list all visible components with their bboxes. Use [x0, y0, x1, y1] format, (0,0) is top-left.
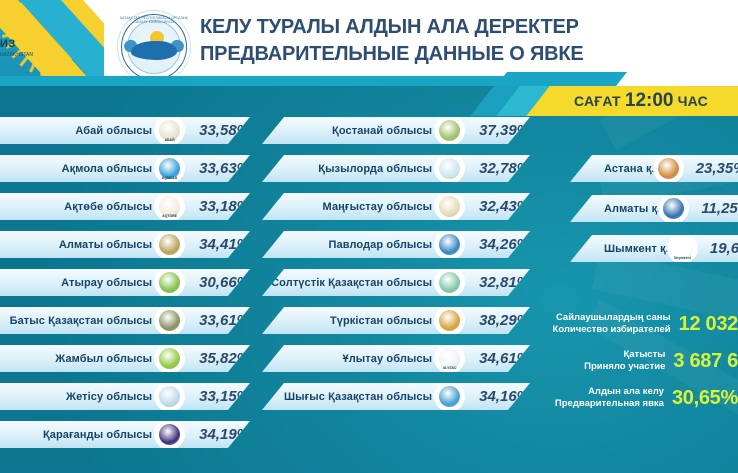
turnout-percentage: 35,82% [199, 350, 250, 367]
seal-emblem-icon [439, 310, 460, 331]
stat-label-kazakh: Сайлаушылардың саны [548, 312, 671, 324]
seal-emblem-icon [439, 272, 460, 293]
region-row: Жетісу облысы33,15% [0, 383, 250, 410]
emblem-caption: ҚАЗАҚСТАН РЕСПУБЛИКАСЫ ОРТАЛЫҚ САЙЛАУ КО… [118, 16, 190, 24]
soltustik-qazaqstan-seal [436, 269, 463, 296]
kostanai-seal [436, 117, 463, 144]
seal-caption: ULYTAU [436, 366, 463, 370]
ulytau-seal: ULYTAU [436, 345, 463, 372]
region-row: Жамбыл облысы35,82% [0, 345, 250, 372]
akmola-seal: AQMOLA [156, 155, 183, 182]
turnout-percentage: 34,19% [199, 426, 250, 443]
aktobe-seal: AQTOBE [156, 193, 183, 220]
stat-label-russian: Приняло участие [548, 361, 665, 373]
turnout-percentage: 11,25% [701, 200, 738, 217]
cec-emblem-icon: ҚАЗАҚСТАН РЕСПУБЛИКАСЫ ОРТАЛЫҚ САЙЛАУ КО… [117, 10, 191, 84]
seal-emblem-icon [159, 424, 180, 445]
header-accent-wedge [493, 72, 627, 86]
seal-emblem-icon [159, 386, 180, 407]
region-row: Қарағанды облысы34,19% [0, 421, 250, 448]
page-header: ИЗ KAZAKHSTAN ҚАЗАҚСТАН РЕСПУБЛИКАСЫ ОРТ… [0, 0, 738, 86]
region-row: Маңғыстау облысы32,43% [262, 193, 530, 220]
region-row: Атырау облысы30,66% [0, 269, 250, 296]
region-row: Ақмола облысыAQMOLA33,63% [0, 155, 250, 182]
region-row: Батыс Қазақстан облысы33,61% [0, 307, 250, 334]
stat-labels: Сайлаушылардың саныКоличество избирателе… [548, 312, 679, 336]
title-russian: ПРЕДВАРИТЕЛЬНЫЕ ДАННЫЕ О ЯВКЕ [200, 41, 584, 68]
region-row: Алматы облысы34,41% [0, 231, 250, 258]
stat-value: 3 687 6 [673, 350, 738, 373]
seal-emblem-icon [159, 234, 180, 255]
region-row: Павлодар облысы34,26% [262, 231, 530, 258]
region-name: Қостанай облысы [332, 125, 436, 137]
emblem-map-icon [131, 41, 177, 60]
header-accent-bar [0, 76, 560, 86]
region-name: Алматы облысы [59, 239, 156, 251]
time-value: 12:00 [625, 90, 674, 111]
zhambyl-seal [156, 345, 183, 372]
time-suffix: ЧАС [678, 93, 708, 109]
region-name: Қарағанды облысы [43, 429, 156, 441]
zhetysu-seal [156, 383, 183, 410]
time-banner-text: САҒАТ 12:00 ЧАС [574, 90, 708, 112]
kazakhstan-flag: ИЗ KAZAKHSTAN [0, 0, 104, 86]
almaty-city-seal [660, 195, 687, 222]
flag-label: ИЗ [0, 38, 16, 50]
seal-caption: AQTOBE [156, 214, 183, 218]
region-row: Ұлытау облысыULYTAU34,61% [262, 345, 530, 372]
region-row: Түркістан облысы38,29% [262, 307, 530, 334]
region-name: Ақтөбе облысы [64, 201, 156, 213]
seal-caption: Shymkent [669, 256, 696, 260]
turnout-percentage: 34,16% [479, 388, 530, 405]
region-row: Қызылорда облысы32,78% [262, 155, 530, 182]
turnout-percentage: 34,61% [479, 350, 530, 367]
stat-value: 12 032 [679, 313, 738, 336]
region-name: Ұлытау облысы [343, 353, 437, 365]
stat-label-russian: Количество избирателей [548, 324, 671, 336]
region-row: Солтүстік Қазақстан облысы32,81% [262, 269, 530, 296]
turnout-percentage: 23,35% [696, 160, 738, 177]
region-name: Қызылорда облысы [318, 163, 436, 175]
stat-item: Алдын ала келуПредварительная явка30,65% [548, 386, 738, 410]
stat-value: 30,65% [672, 387, 738, 410]
seal-emblem-icon [658, 158, 679, 179]
region-name: Солтүстік Қазақстан облысы [271, 277, 436, 289]
time-prefix: САҒАТ [574, 93, 621, 109]
region-row: Шығыс Қазақстан облысы34,16% [262, 383, 530, 410]
region-name: Түркістан облысы [330, 315, 436, 327]
infographic-canvas: ИЗ KAZAKHSTAN ҚАЗАҚСТАН РЕСПУБЛИКАСЫ ОРТ… [0, 0, 738, 473]
turnout-percentage: 33,18% [199, 198, 250, 215]
page-title: КЕЛУ ТУРАЛЫ АЛДЫН АЛА ДЕРЕКТЕР ПРЕДВАРИТ… [200, 14, 584, 68]
stat-label-kazakh: Алдын ала келу [548, 386, 664, 398]
turnout-percentage: 34,26% [479, 236, 530, 253]
turnout-percentage: 33,63% [199, 160, 250, 177]
seal-emblem-icon [439, 158, 460, 179]
region-row: Шымкент қ.Shymkent19,63% [570, 235, 738, 262]
seal-emblem-icon [439, 196, 460, 217]
turkistan-seal [436, 307, 463, 334]
turnout-percentage: 32,43% [479, 198, 530, 215]
abai-seal: АБАЙ [156, 117, 183, 144]
region-name: Атырау облысы [61, 277, 156, 289]
region-name: Алматы қ. [604, 203, 660, 215]
pavlodar-seal [436, 231, 463, 258]
stat-item: Сайлаушылардың саныКоличество избирателе… [548, 312, 738, 336]
seal-emblem-icon [663, 198, 684, 219]
flag-sublabel: KAZAKHSTAN [0, 52, 33, 58]
stat-labels: Алдын ала келуПредварительная явка [548, 386, 672, 410]
turnout-percentage: 37,39% [479, 122, 530, 139]
region-name: Жамбыл облысы [55, 353, 156, 365]
turnout-percentage: 38,29% [479, 312, 530, 329]
stat-item: ҚатыстыПриняло участие3 687 6 [548, 349, 738, 373]
seal-emblem-icon [159, 348, 180, 369]
kyzylorda-seal [436, 155, 463, 182]
stat-label-kazakh: Қатысты [548, 349, 665, 361]
seal-emblem-icon [439, 120, 460, 141]
atyrau-seal [156, 269, 183, 296]
turnout-percentage: 30,66% [199, 274, 250, 291]
shygys-qazaqstan-seal [436, 383, 463, 410]
mangystau-seal [436, 193, 463, 220]
header-bottom-accent [0, 76, 738, 86]
region-row: Ақтөбе облысыAQTOBE33,18% [0, 193, 250, 220]
region-name: Абай облысы [75, 125, 156, 137]
karaganda-seal [156, 421, 183, 448]
region-name: Жетісу облысы [66, 391, 156, 403]
turnout-percentage: 19,63% [710, 240, 738, 257]
region-row: Алматы қ.11,25% [570, 195, 738, 222]
astana-seal [655, 155, 682, 182]
region-name: Батыс Қазақстан облысы [10, 315, 157, 327]
summary-stats: Сайлаушылардың саныКоличество избирателе… [548, 312, 738, 423]
batys-qazaqstan-seal [156, 307, 183, 334]
seal-caption: AQMOLA [156, 176, 183, 180]
seal-emblem-icon [159, 310, 180, 331]
turnout-percentage: 32,78% [479, 160, 530, 177]
region-name: Павлодар облысы [329, 239, 437, 251]
seal-emblem-icon [439, 386, 460, 407]
region-name: Маңғыстау облысы [323, 201, 437, 213]
stat-labels: ҚатыстыПриняло участие [548, 349, 673, 373]
seal-caption: АБАЙ [156, 138, 183, 142]
region-name: Шығыс Қазақстан облысы [284, 391, 436, 403]
almaty-region-seal [156, 231, 183, 258]
turnout-percentage: 34,41% [199, 236, 250, 253]
shymkent-seal: Shymkent [669, 235, 696, 262]
turnout-percentage: 33,58% [199, 122, 250, 139]
seal-emblem-icon [439, 234, 460, 255]
region-name: Шымкент қ. [604, 243, 669, 255]
region-row: Астана қ.23,35% [570, 155, 738, 182]
title-kazakh: КЕЛУ ТУРАЛЫ АЛДЫН АЛА ДЕРЕКТЕР [200, 14, 584, 41]
region-row: Абай облысыАБАЙ33,58% [0, 117, 250, 144]
region-row: Қостанай облысы37,39% [262, 117, 530, 144]
region-name: Астана қ. [604, 163, 655, 175]
turnout-percentage: 33,15% [199, 388, 250, 405]
seal-emblem-icon [159, 272, 180, 293]
turnout-percentage: 33,61% [199, 312, 250, 329]
time-banner: САҒАТ 12:00 ЧАС [560, 86, 738, 116]
region-name: Ақмола облысы [62, 163, 156, 175]
turnout-percentage: 32,81% [479, 274, 530, 291]
stat-label-russian: Предварительная явка [548, 398, 664, 410]
